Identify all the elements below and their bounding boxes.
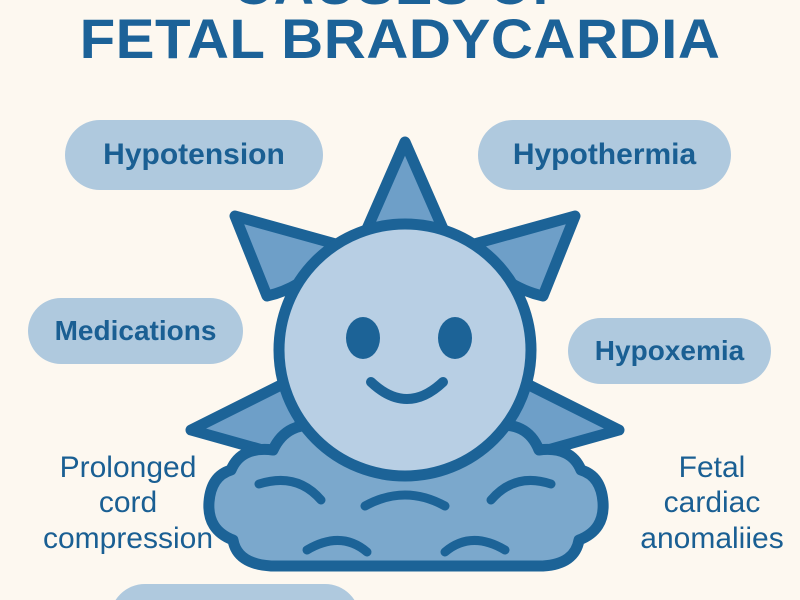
cardiac-label-line-2: cardiac: [664, 486, 761, 519]
cause-pill-bottom-cut-off[interactable]: [110, 584, 360, 600]
infographic-poster: CAUSES OF FETAL BRADYCARDIA: [0, 0, 800, 600]
cause-pill-hypoxemia[interactable]: Hypoxemia: [568, 318, 771, 384]
page-title: CAUSES OF FETAL BRADYCARDIA: [0, 0, 800, 66]
cause-label-fetal-cardiac-anomalies: Fetal cardiac anomaliies: [596, 450, 800, 556]
cord-label-line-3: compression: [43, 522, 213, 555]
cardiac-label-line-1: Fetal: [679, 451, 746, 484]
cause-label-prolonged-cord-compression: Prolonged cord compression: [0, 450, 262, 556]
cause-pill-hypotension[interactable]: Hypotension: [65, 120, 323, 190]
cause-pill-hypothermia[interactable]: Hypothermia: [478, 120, 731, 190]
cause-pill-medications[interactable]: Medications: [28, 298, 243, 364]
eye-left: [346, 317, 380, 359]
cord-label-line-2: cord: [99, 486, 157, 519]
eye-right: [438, 317, 472, 359]
cord-label-line-1: Prolonged: [60, 451, 197, 484]
cardiac-label-line-3: anomaliies: [640, 522, 783, 555]
character-head: [279, 224, 531, 476]
title-line-fetal-bradycardia: FETAL BRADYCARDIA: [0, 12, 800, 66]
